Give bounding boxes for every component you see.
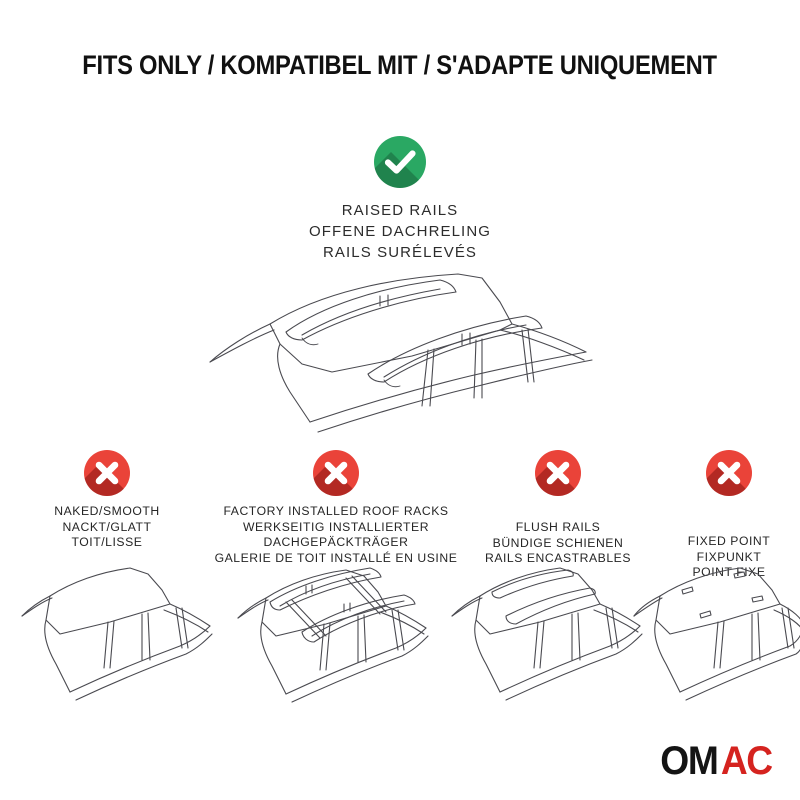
- incompatible-0-line-1: NAKED/SMOOTH: [0, 504, 214, 520]
- logo-text-dark: OM: [660, 741, 717, 781]
- check-circle-icon: [374, 136, 426, 188]
- incompatible-3-line-1: FIXED POINT: [658, 534, 800, 550]
- raised-rails-drawing: [182, 272, 622, 452]
- flush-rails-illustration: [444, 556, 644, 706]
- incompatible-item-factory-roof-rack: FACTORY INSTALLED ROOF RACKS WERKSEITIG …: [214, 450, 458, 566]
- x-mark-glyph: [313, 450, 359, 496]
- compatible-label-line-3: RAILS SURÉLEVÉS: [0, 242, 800, 263]
- incompatible-illustrations-row: [0, 556, 800, 706]
- x-mark-glyph: [84, 450, 130, 496]
- incompatible-2-line-2: BÜNDIGE SCHIENEN: [458, 536, 658, 552]
- check-mark-glyph: [374, 136, 426, 188]
- x-mark-glyph: [706, 450, 752, 496]
- incompatible-item-flush-rails: FLUSH RAILS BÜNDIGE SCHIENEN RAILS ENCAS…: [458, 450, 658, 567]
- incompatible-1-line-1: FACTORY INSTALLED ROOF RACKS: [214, 504, 458, 520]
- omac-logo: OMAC: [656, 744, 772, 778]
- compatible-label-line-1: RAISED RAILS: [0, 200, 800, 221]
- incompatible-label-0: NAKED/SMOOTH NACKT/GLATT TOIT/LISSE: [0, 504, 214, 551]
- naked-smooth-drawing: [14, 556, 214, 706]
- page-title: FITS ONLY / KOMPATIBEL MIT / S'ADAPTE UN…: [83, 50, 718, 81]
- compatible-label-line-2: OFFENE DACHRELING: [0, 221, 800, 242]
- flush-rails-drawing: [444, 556, 644, 706]
- incompatible-1-line-3: DACHGEPÄCKTRÄGER: [214, 535, 458, 551]
- naked-smooth-illustration: [14, 556, 214, 706]
- x-circle-icon: [535, 450, 581, 496]
- compatible-section: RAISED RAILS OFFENE DACHRELING RAILS SUR…: [0, 136, 800, 263]
- fixed-point-illustration: [630, 556, 800, 706]
- logo-text-red: AC: [721, 741, 772, 781]
- raised-rails-illustration: [182, 272, 622, 452]
- x-circle-icon: [706, 450, 752, 496]
- page-title-bar: FITS ONLY / KOMPATIBEL MIT / S'ADAPTE UN…: [0, 50, 800, 81]
- x-circle-icon: [84, 450, 130, 496]
- factory-roof-rack-illustration: [224, 556, 439, 706]
- incompatible-1-line-2: WERKSEITIG INSTALLIERTER: [214, 520, 458, 536]
- incompatible-0-line-3: TOIT/LISSE: [0, 535, 214, 551]
- incompatible-2-line-1: FLUSH RAILS: [458, 520, 658, 536]
- x-mark-glyph: [535, 450, 581, 496]
- factory-roof-rack-drawing: [224, 556, 439, 706]
- compatible-label: RAISED RAILS OFFENE DACHRELING RAILS SUR…: [0, 200, 800, 263]
- fixed-point-drawing: [630, 556, 800, 706]
- incompatible-0-line-2: NACKT/GLATT: [0, 520, 214, 536]
- incompatible-item-naked-smooth: NAKED/SMOOTH NACKT/GLATT TOIT/LISSE: [0, 450, 214, 551]
- x-circle-icon: [313, 450, 359, 496]
